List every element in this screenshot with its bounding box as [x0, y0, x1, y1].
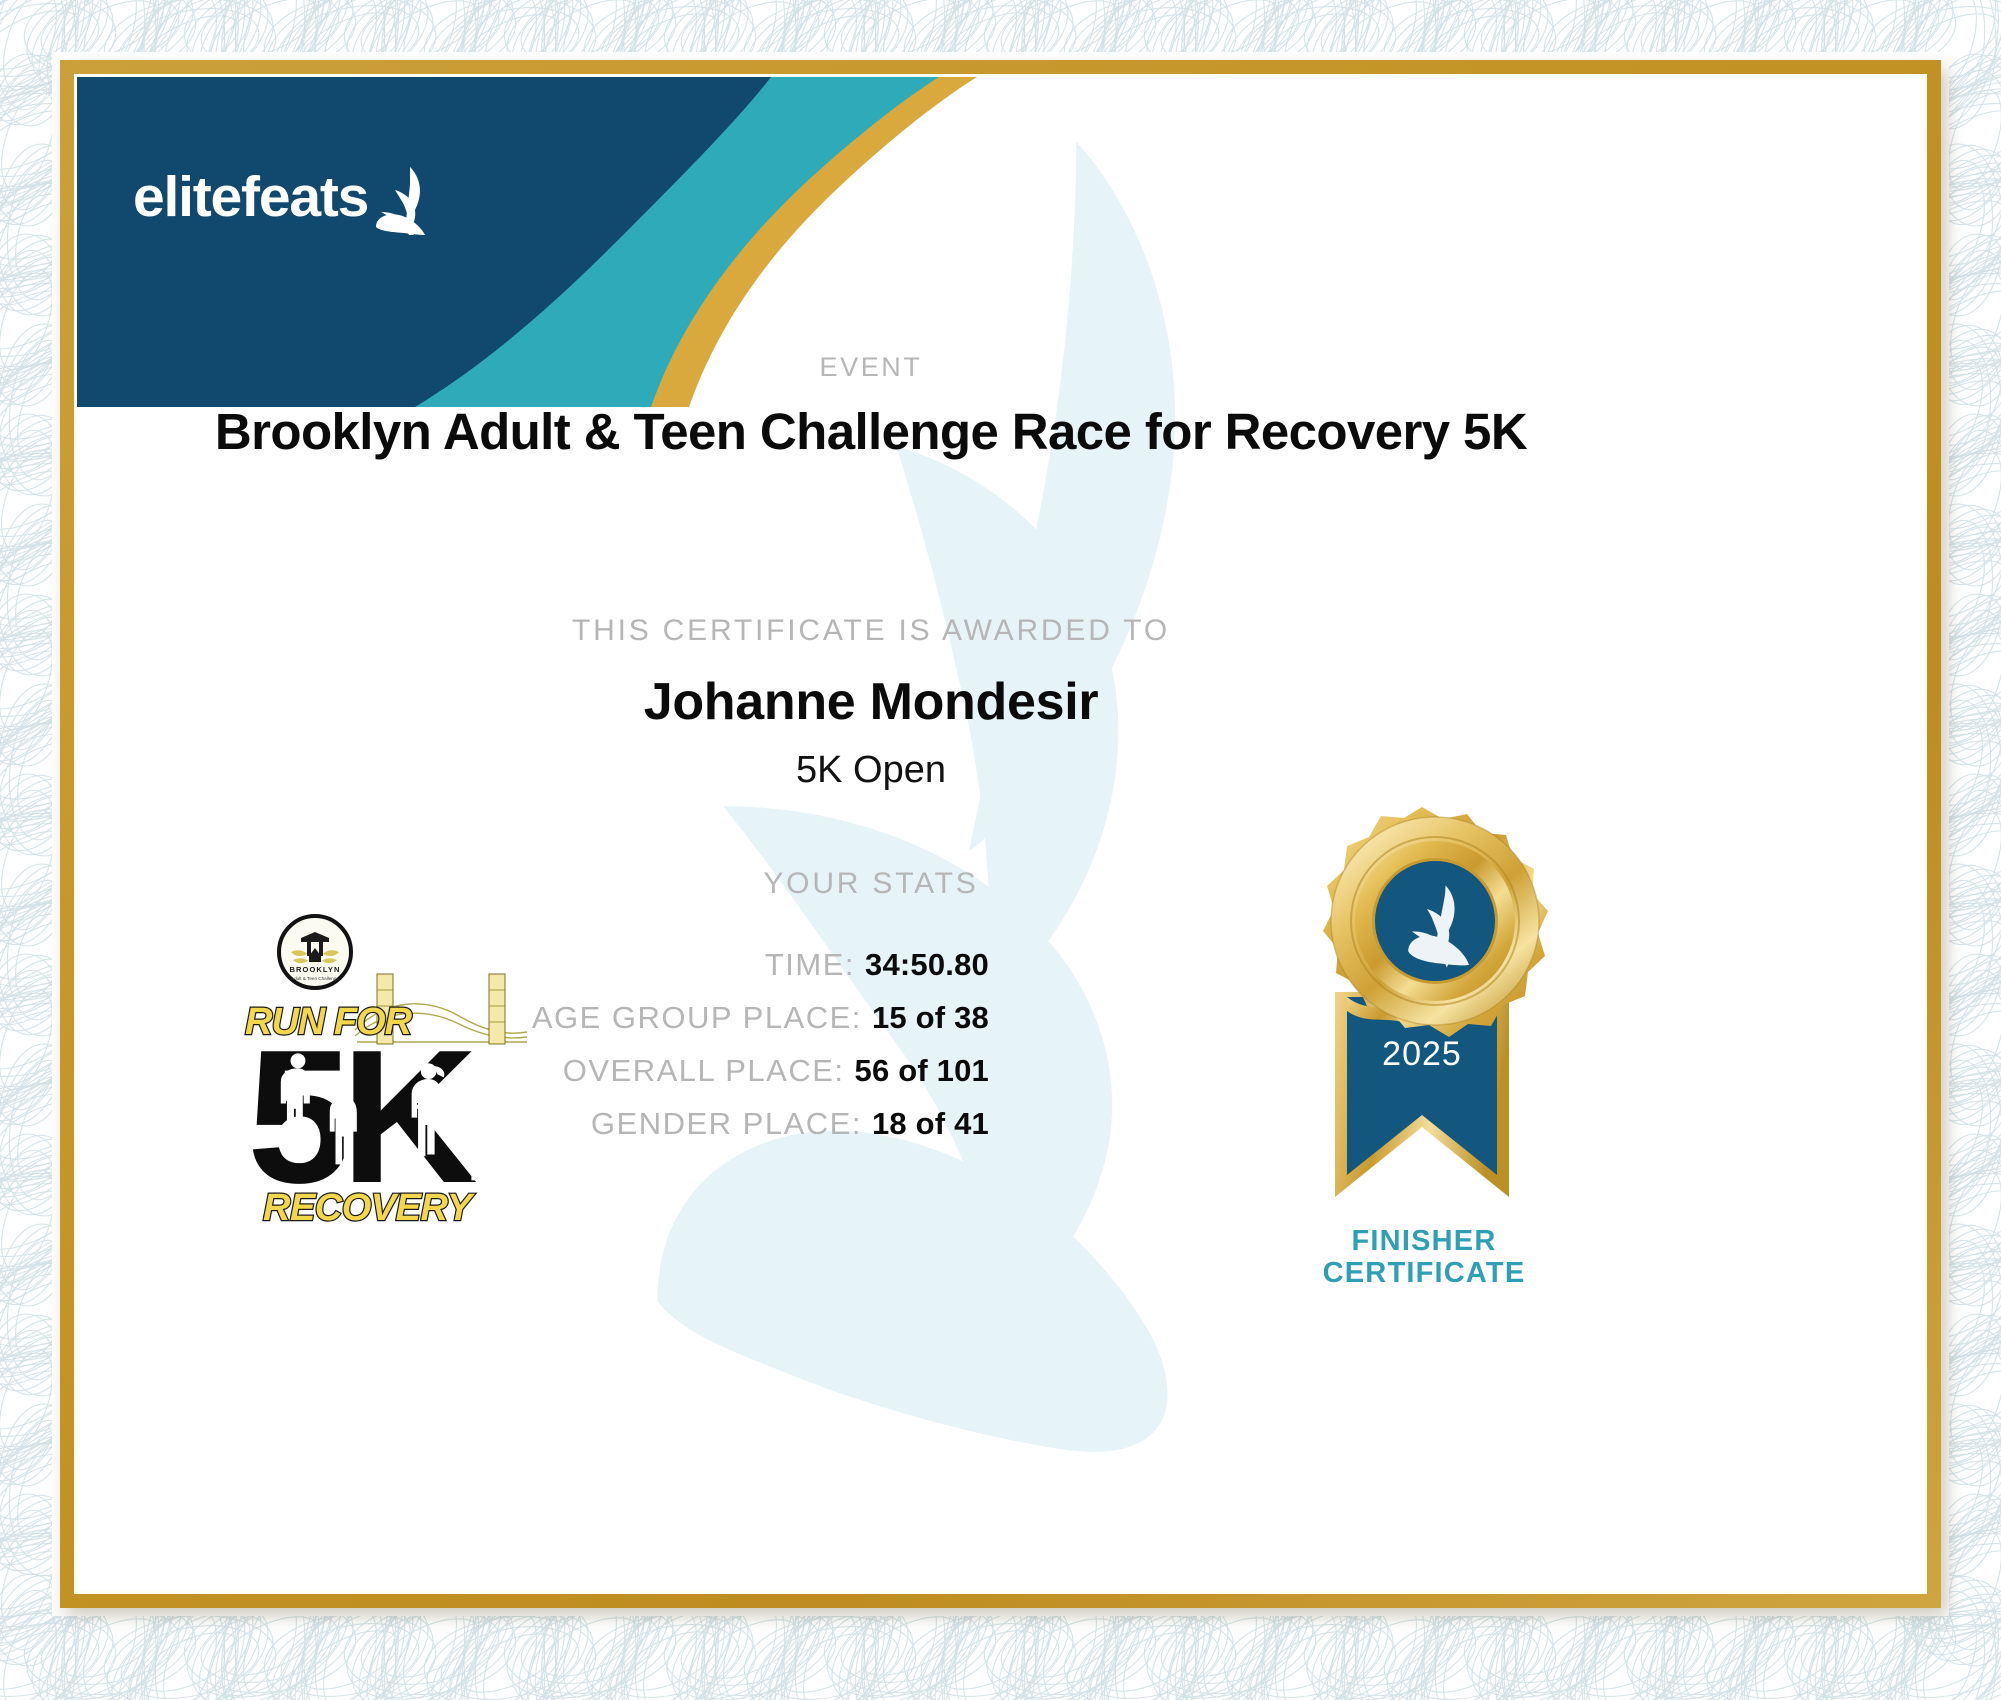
race-badge-title: BROOKLYN — [289, 965, 340, 974]
event-label: EVENT — [77, 352, 1665, 383]
stat-value: 56 of 101 — [855, 1053, 990, 1088]
recipient-name: Johanne Mondesir — [77, 672, 1665, 732]
certificate-content: EVENT Brooklyn Adult & Teen Challenge Ra… — [77, 77, 1924, 1591]
inner-cream-mat: elitefeats EVENT Brooklyn Adult & Teen C… — [74, 74, 1927, 1594]
awarded-to-label: THIS CERTIFICATE IS AWARDED TO — [77, 614, 1665, 648]
finisher-caption-line1: FINISHER — [1249, 1225, 1599, 1257]
medal-year: 2025 — [1382, 1035, 1462, 1073]
finisher-caption: FINISHER CERTIFICATE — [1249, 1225, 1599, 1290]
finisher-caption-line2: CERTIFICATE — [1249, 1257, 1599, 1289]
race-badge-subtitle: Adult & Teen Challenge — [291, 976, 339, 981]
certificate-page: elitefeats EVENT Brooklyn Adult & Teen C… — [0, 0, 2001, 1700]
stat-value: 18 of 41 — [872, 1106, 989, 1141]
stat-key: OVERALL PLACE: — [563, 1053, 845, 1088]
race-event-logo: BROOKLYN Adult & Teen Challenge RUN FOR … — [227, 912, 537, 1232]
stat-key: AGE GROUP PLACE: — [532, 1000, 862, 1035]
finisher-medal: 2025 — [1257, 797, 1587, 1267]
stat-key: TIME: — [765, 947, 855, 982]
recipient-division: 5K Open — [77, 749, 1665, 792]
race-logo-line-bottom: RECOVERY — [263, 1187, 476, 1229]
stat-value: 15 of 38 — [872, 1000, 989, 1035]
stat-value: 34:50.80 — [865, 947, 989, 982]
event-title: Brooklyn Adult & Teen Challenge Race for… — [77, 402, 1665, 461]
stat-key: GENDER PLACE: — [591, 1106, 862, 1141]
certificate-canvas: elitefeats EVENT Brooklyn Adult & Teen C… — [77, 77, 1924, 1591]
gold-border-frame: elitefeats EVENT Brooklyn Adult & Teen C… — [60, 60, 1941, 1608]
